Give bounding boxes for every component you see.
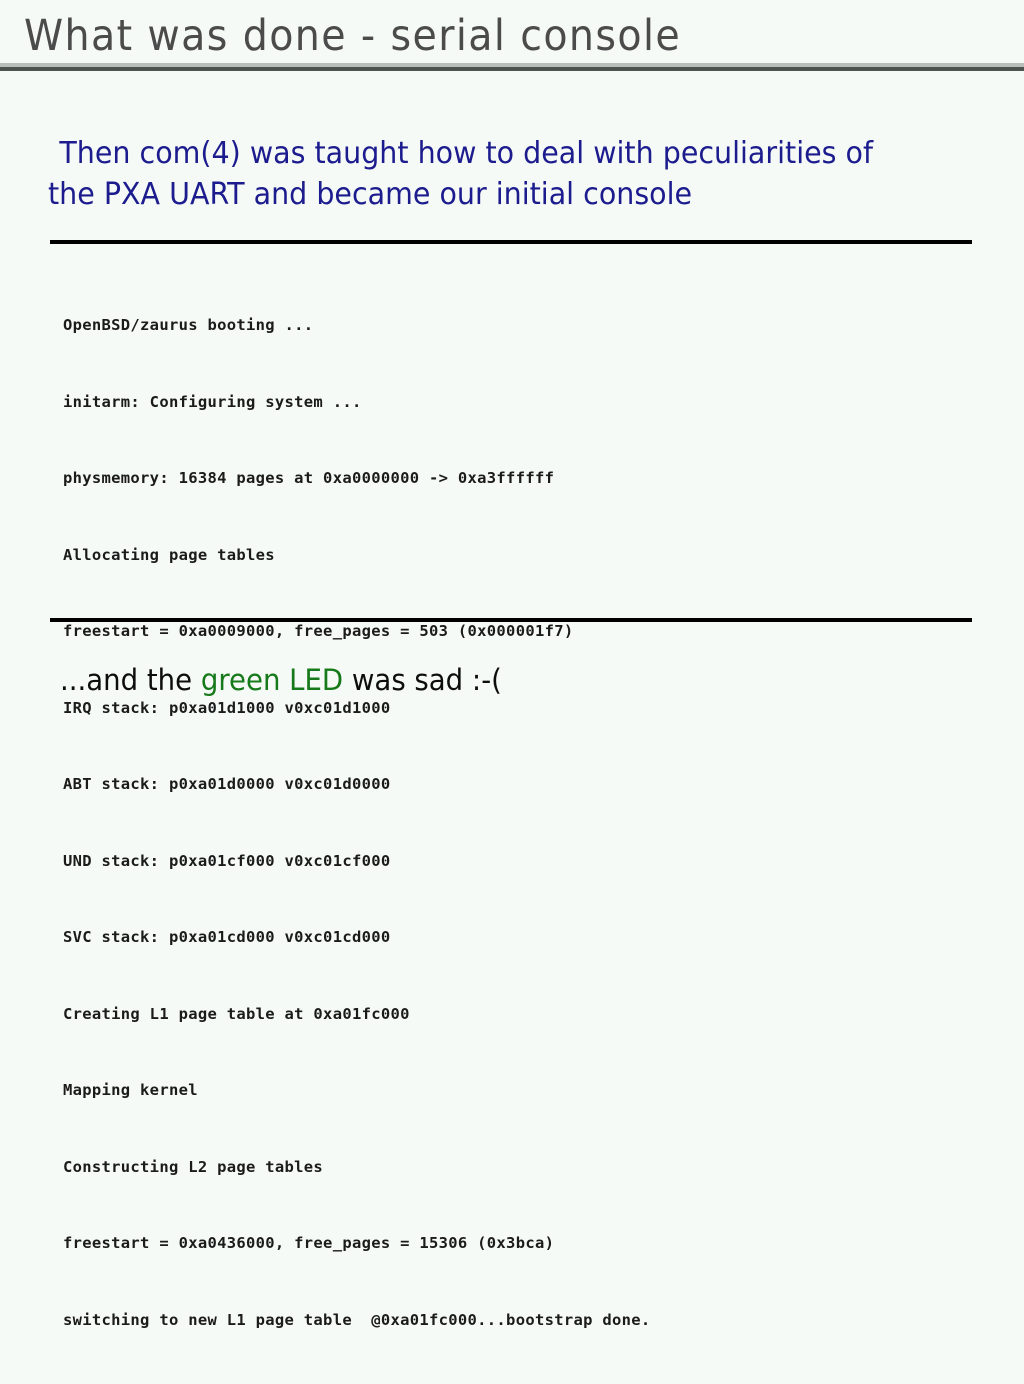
console-divider-bottom — [50, 618, 972, 622]
title-divider-dark-band — [0, 67, 1024, 71]
intro-line-1: Then com(4) was taught how to deal with … — [48, 133, 922, 174]
console-output-block — [50, 240, 972, 244]
console-line: switching to new L1 page table @0xa01fc0… — [63, 1308, 651, 1334]
console-line: Creating L1 page table at 0xa01fc000 — [63, 1002, 651, 1028]
console-line: physmemory: 16384 pages at 0xa0000000 ->… — [63, 466, 651, 492]
page-title: What was done - serial console — [24, 8, 907, 64]
closing-highlight: green LED — [201, 663, 343, 697]
console-line: initarm: Configuring system ... — [63, 390, 651, 416]
console-line: Mapping kernel — [63, 1078, 651, 1104]
slide-canvas: What was done - serial console Then com(… — [0, 0, 1024, 768]
console-line: OpenBSD/zaurus booting ... — [63, 313, 651, 339]
console-line: ABT stack: p0xa01d0000 v0xc01d0000 — [63, 772, 651, 798]
intro-line-2: the PXA UART and became our initial cons… — [48, 174, 922, 215]
console-line: UND stack: p0xa01cf000 v0xc01cf000 — [63, 849, 651, 875]
console-line: Constructing L2 page tables — [63, 1155, 651, 1181]
console-divider-top — [50, 240, 972, 244]
title-divider — [0, 63, 1024, 71]
intro-paragraph: Then com(4) was taught how to deal with … — [48, 133, 922, 215]
console-line: freestart = 0xa0436000, free_pages = 153… — [63, 1231, 651, 1257]
closing-line: ...and the green LED was sad :-( — [60, 660, 502, 700]
closing-suffix: was sad :-( — [343, 663, 502, 697]
console-output-text: OpenBSD/zaurus booting ... initarm: Conf… — [63, 262, 651, 1384]
closing-prefix: ...and the — [60, 663, 201, 697]
console-line: SVC stack: p0xa01cd000 v0xc01cd000 — [63, 925, 651, 951]
console-line: freestart = 0xa0009000, free_pages = 503… — [63, 619, 651, 645]
console-line: Allocating page tables — [63, 543, 651, 569]
